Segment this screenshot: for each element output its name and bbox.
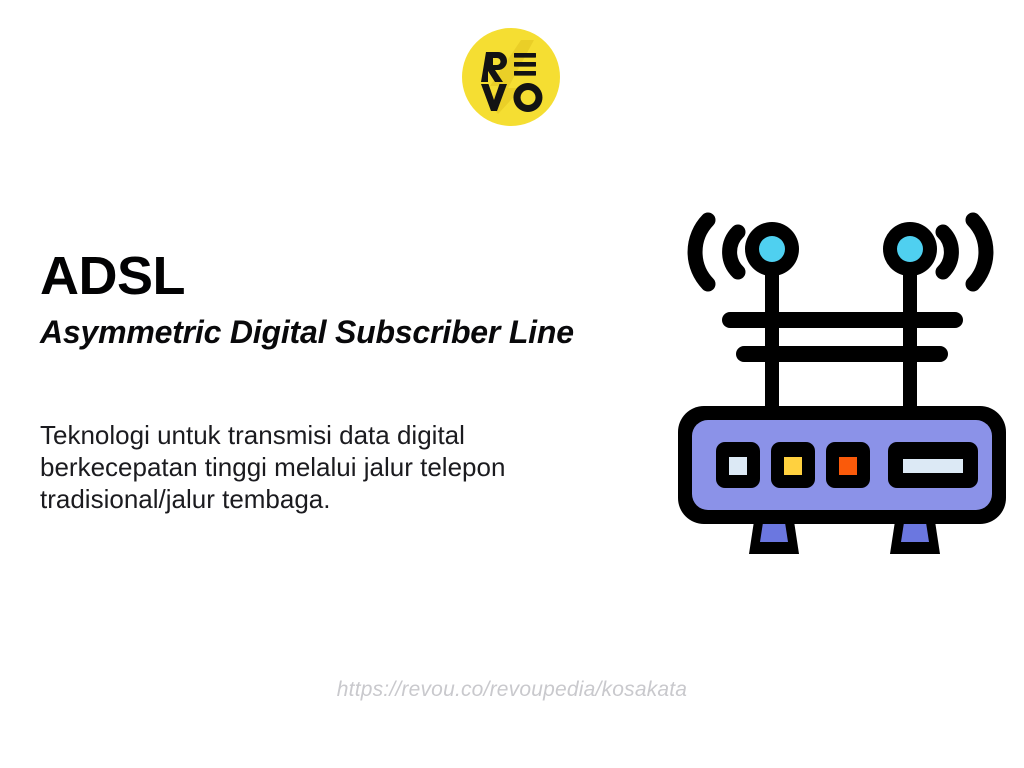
- definition-line-3: tradisional/jalur tembaga.: [40, 483, 620, 515]
- source-url: https://revou.co/revoupedia/kosakata: [0, 678, 1024, 702]
- logo-wordmark-revo: [462, 28, 560, 126]
- router-led-bay-2: [771, 442, 815, 488]
- router-led-bay-3: [826, 442, 870, 488]
- router-led-bay-1: [716, 442, 760, 488]
- definition-text: Teknologi untuk transmisi data digital b…: [40, 419, 620, 515]
- wifi-router-illustration: [672, 198, 1012, 574]
- antenna-crossbars: [730, 320, 955, 354]
- signal-arcs-left: [695, 220, 738, 284]
- router-display-panel: [888, 442, 978, 488]
- definition-line-2: berkecepatan tinggi melalui jalur telepo…: [40, 451, 620, 483]
- antenna-head-right: [883, 222, 937, 276]
- slide-canvas: ADSL Asymmetric Digital Subscriber Line …: [0, 0, 1024, 768]
- revou-logo: [462, 28, 560, 126]
- antenna-head-left: [745, 222, 799, 276]
- definition-line-1: Teknologi untuk transmisi data digital: [40, 419, 620, 451]
- signal-arcs-right: [943, 220, 986, 284]
- page-title: ADSL: [40, 248, 185, 305]
- antenna-masts: [772, 260, 910, 410]
- page-subtitle: Asymmetric Digital Subscriber Line: [40, 313, 574, 351]
